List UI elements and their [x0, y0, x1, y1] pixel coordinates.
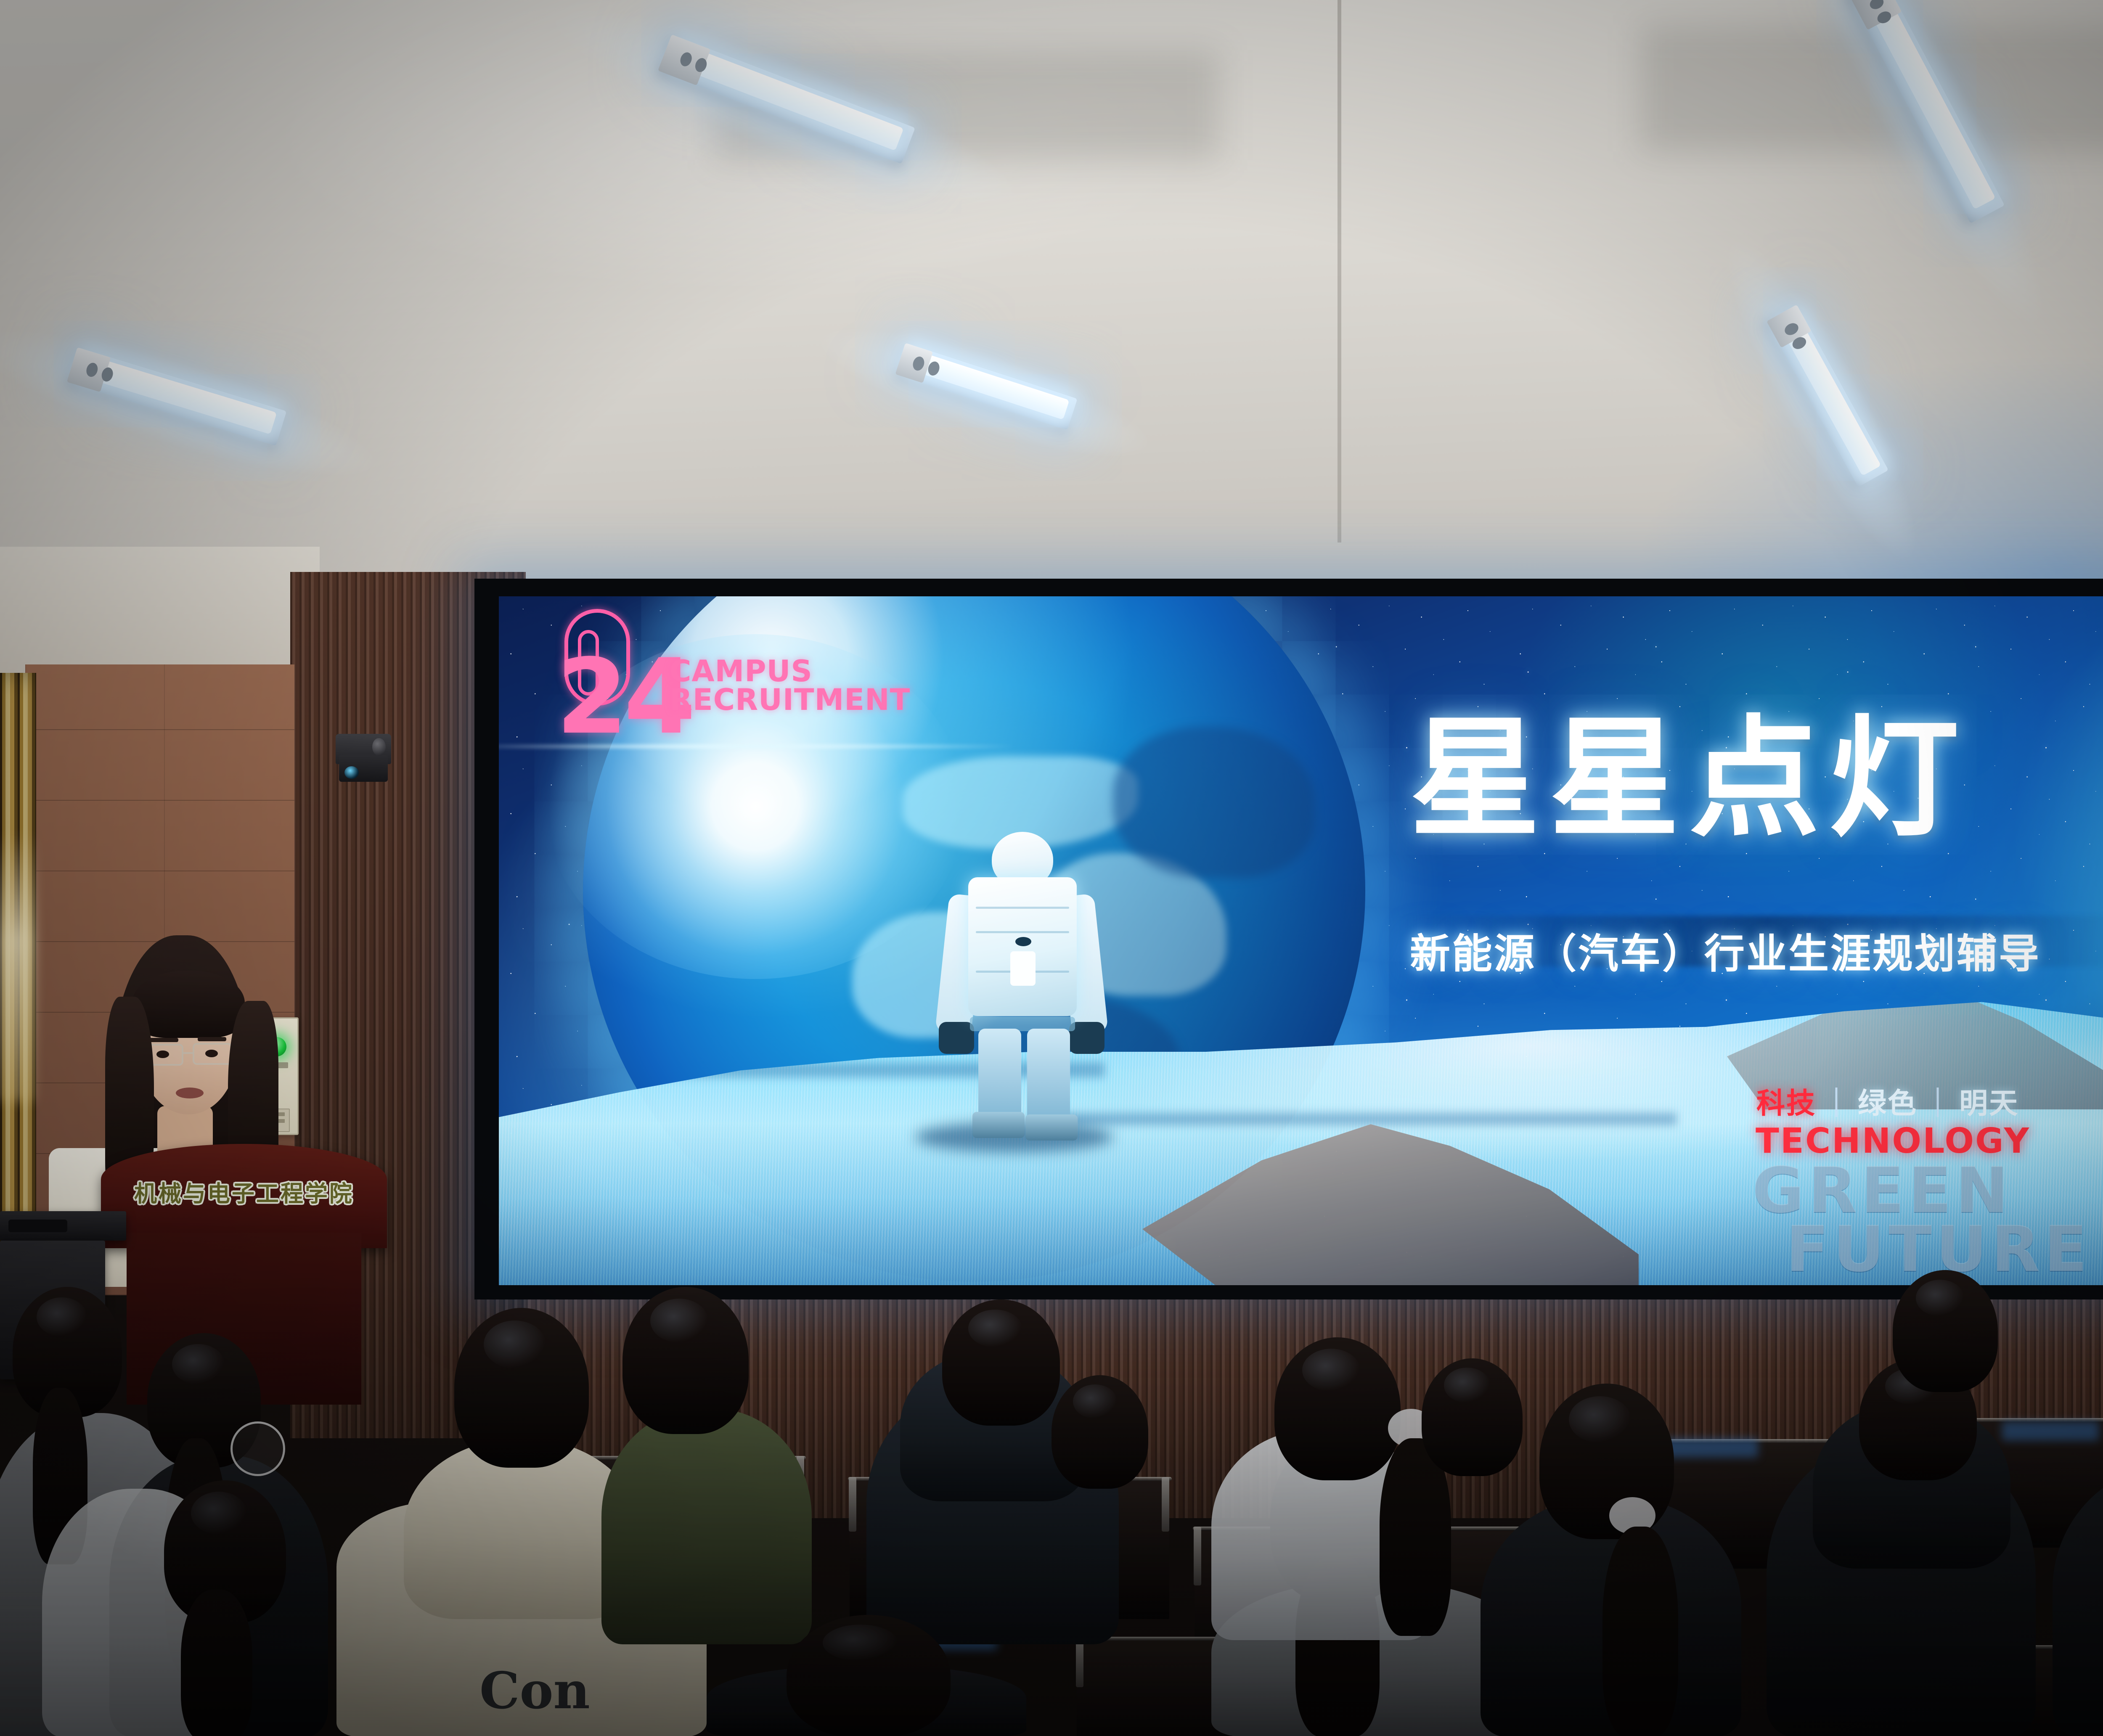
hair-highlight: [1302, 1349, 1360, 1392]
camera-lens-icon: [344, 766, 359, 779]
seat-post: [1162, 1477, 1169, 1532]
audience-head: [1422, 1358, 1523, 1476]
seat-post: [1076, 1637, 1083, 1687]
logo-line-1: CAMPUS: [670, 656, 813, 687]
audience-head: [454, 1308, 589, 1468]
hair-highlight: [172, 1344, 224, 1384]
logo-line-2: RECRUITMENT: [670, 685, 910, 715]
surface-ridge: [1046, 1113, 1677, 1125]
tagline-separator-2: ｜: [1918, 1087, 1959, 1120]
desk-screen-glow: [2002, 1421, 2099, 1441]
hoodie-text: Con: [479, 1661, 590, 1720]
hair-highlight: [1569, 1396, 1631, 1443]
ceiling-shadow: [1640, 25, 2103, 151]
hair-highlight: [37, 1297, 87, 1336]
gold-trim-highlight: [0, 833, 34, 1102]
ponytail: [1602, 1527, 1678, 1736]
speaker-mouth: [176, 1088, 204, 1098]
camera-knob: [372, 738, 386, 756]
audience-head: [1274, 1337, 1401, 1480]
audience-head: [787, 1615, 951, 1736]
backpack-vent: [1015, 937, 1031, 946]
hair-highlight: [1916, 1280, 1964, 1316]
seat-post: [849, 1477, 856, 1532]
audience-head: [942, 1299, 1060, 1426]
tagline-part-3: 明天: [1959, 1087, 2019, 1120]
astronaut-boot-left: [972, 1112, 1025, 1138]
slide-headline: 星星点灯: [1410, 673, 1968, 862]
speaker-eye-right: [205, 1050, 218, 1057]
astronaut-boot-right: [1025, 1114, 1078, 1141]
astronaut-figure: [932, 832, 1109, 1143]
audience-head: [1051, 1375, 1148, 1489]
hair-highlight: [1073, 1384, 1118, 1418]
ptz-camera: [336, 734, 391, 786]
backpack-seam: [976, 931, 1069, 933]
ponytail: [181, 1590, 252, 1736]
tagline-part-1: 科技: [1756, 1087, 1816, 1120]
speaker-brow-right: [198, 1037, 226, 1041]
wall-upper-band: [0, 547, 320, 673]
ceiling-seam: [1338, 0, 1341, 542]
slide-subtitle: 新能源（汽车）行业生涯规划辅导: [1410, 921, 2041, 979]
jacket-logo-badge: [230, 1421, 285, 1476]
hair-highlight: [968, 1310, 1022, 1347]
astronaut-leg-left: [978, 1029, 1021, 1122]
astronaut-leg-right: [1027, 1029, 1070, 1122]
campus-recruitment-logo: 24 CAMPUS RECRUITMENT: [556, 606, 817, 740]
podium-sign: 机械与电子工程学院: [118, 1175, 370, 1208]
hair-highlight: [1444, 1368, 1490, 1403]
audience-head: [622, 1287, 749, 1434]
seat-post: [1194, 1527, 1201, 1585]
hair-highlight: [191, 1492, 247, 1535]
backpack-seam: [976, 907, 1069, 909]
speaker-eye-left: [156, 1051, 169, 1058]
desk-screen-glow: [1661, 1438, 1758, 1458]
tagline-separator-1: ｜: [1816, 1087, 1858, 1120]
astronaut-backpack: [968, 877, 1077, 1016]
hair-highlight: [484, 1321, 546, 1368]
led-wall-screen: 24 CAMPUS RECRUITMENT 星星点灯 新能源（汽车）行业生涯规划…: [499, 596, 2103, 1285]
speaker-brow-left: [150, 1038, 178, 1042]
microphone-base: [8, 1220, 67, 1232]
backpack-module: [1010, 951, 1036, 986]
hair-highlight: [650, 1299, 708, 1343]
hair-highlight: [823, 1625, 898, 1661]
lecture-hall-photo: 24 CAMPUS RECRUITMENT 星星点灯 新能源（汽车）行业生涯规划…: [0, 0, 2103, 1736]
tagline-part-2: 绿色: [1858, 1087, 1918, 1120]
speaker-glasses-bridge: [183, 1052, 193, 1054]
audience-body-green: [601, 1409, 812, 1644]
tagline-chinese: 科技｜绿色｜明天: [1756, 1080, 2019, 1122]
astronaut-glove-left: [939, 1022, 974, 1054]
audience-head: [1893, 1270, 1998, 1392]
